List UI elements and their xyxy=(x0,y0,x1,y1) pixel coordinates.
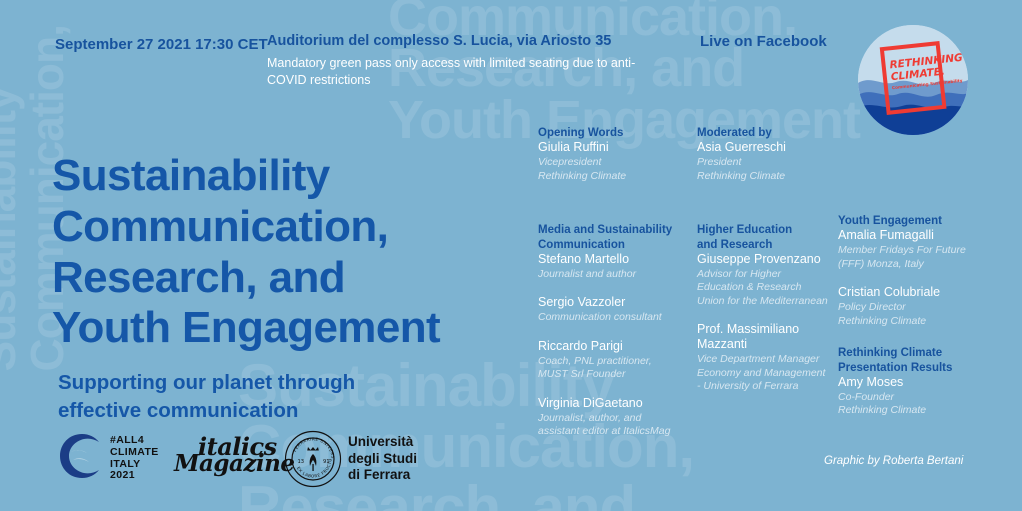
all4climate-logo: #ALL4 CLIMATE ITALY 2021 xyxy=(58,432,178,484)
speaker-group: Higher Education and Research Giuseppe P… xyxy=(697,223,857,393)
speaker-name: Cristian Colubriale xyxy=(838,285,998,300)
speaker-entry: Cristian Colubriale Policy Director Reth… xyxy=(838,285,998,328)
speaker-role: Co-Founder Rethinking Climate xyxy=(838,391,998,418)
speaker-group-heading: Rethinking Climate Presentation Results xyxy=(838,346,998,375)
speaker-name: Stefano Martello xyxy=(538,252,698,267)
speaker-group-heading: Moderated by xyxy=(697,126,857,140)
poster-canvas: Communication, Research, and Youth Engag… xyxy=(0,0,1022,511)
speaker-column-1: Opening Words Giulia Ruffini Vicepreside… xyxy=(538,126,698,457)
speaker-group: Moderated by Asia Guerreschi President R… xyxy=(697,126,857,183)
page-title: Sustainability Communication, Research, … xyxy=(52,151,440,353)
speaker-role: Vicepresident Rethinking Climate xyxy=(538,156,698,183)
graphic-credit: Graphic by Roberta Bertani xyxy=(824,455,963,467)
speaker-group: Youth Engagement Amalia Fumagalli Member… xyxy=(838,214,998,328)
speaker-role: Member Fridays For Future (FFF) Monza, I… xyxy=(838,244,998,271)
speaker-group: Opening Words Giulia Ruffini Vicepreside… xyxy=(538,126,698,183)
speaker-name: Amalia Fumagalli xyxy=(838,228,998,243)
university-of-ferrara-logo: FERRARIAE UNIVERSITAS EX LABORE FRUCTUS … xyxy=(284,428,464,486)
speaker-role: Communication consultant xyxy=(538,311,698,324)
magazine-word: Magazine xyxy=(174,450,295,477)
svg-text:91: 91 xyxy=(323,459,330,465)
speaker-role: Coach, PNL practitioner, MUST Srl Founde… xyxy=(538,355,698,382)
speaker-role: Advisor for Higher Education & Research … xyxy=(697,268,857,308)
speaker-group-heading: Opening Words xyxy=(538,126,698,140)
svg-text:FERRARIAE UNIVERSITAS: FERRARIAE UNIVERSITAS xyxy=(284,430,336,459)
speaker-role: Journalist, author, and assistant editor… xyxy=(538,412,698,439)
event-date-time: September 27 2021 17:30 CET xyxy=(55,33,268,56)
university-name-label: Università degli Studi di Ferrara xyxy=(348,434,417,484)
speaker-role: President Rethinking Climate xyxy=(697,156,857,183)
speaker-name: Riccardo Parigi xyxy=(538,339,698,354)
speaker-entry: Giulia Ruffini Vicepresident Rethinking … xyxy=(538,140,698,183)
all4climate-label: #ALL4 CLIMATE ITALY 2021 xyxy=(110,435,159,482)
speaker-column-3: Youth Engagement Amalia Fumagalli Member… xyxy=(838,214,998,436)
speaker-role: Policy Director Rethinking Climate xyxy=(838,301,998,328)
venue-covid-note: Mandatory green pass only access with li… xyxy=(267,55,647,88)
speaker-group: Media and Sustainability Communication S… xyxy=(538,223,698,438)
seal-top-text: FERRARIAE UNIVERSITAS xyxy=(284,430,336,459)
svg-text:13: 13 xyxy=(298,459,305,465)
rethinking-climate-logo: RETHINKING CLIMATE. Communicating Sustai… xyxy=(858,25,968,135)
speaker-name: Prof. Massimiliano Mazzanti xyxy=(697,322,857,352)
speaker-entry: Sergio Vazzoler Communication consultant xyxy=(538,295,698,324)
speaker-name: Giulia Ruffini xyxy=(538,140,698,155)
speaker-entry: Prof. Massimiliano Mazzanti Vice Departm… xyxy=(697,322,857,393)
speaker-name: Asia Guerreschi xyxy=(697,140,857,155)
speaker-group-heading: Media and Sustainability Communication xyxy=(538,223,698,252)
venue-block: Auditorium del complesso S. Lucia, via A… xyxy=(267,33,647,88)
speaker-name: Giuseppe Provenzano xyxy=(697,252,857,267)
speaker-entry: Stefano Martello Journalist and author xyxy=(538,252,698,281)
speaker-entry: Amy Moses Co-Founder Rethinking Climate xyxy=(838,375,998,418)
speaker-name: Amy Moses xyxy=(838,375,998,390)
speaker-entry: Giuseppe Provenzano Advisor for Higher E… xyxy=(697,252,857,308)
speaker-entry: Riccardo Parigi Coach, PNL practitioner,… xyxy=(538,339,698,382)
speaker-role: Journalist and author xyxy=(538,268,698,281)
university-seal-icon: FERRARIAE UNIVERSITAS EX LABORE FRUCTUS … xyxy=(284,430,342,488)
speaker-entry: Virginia DiGaetano Journalist, author, a… xyxy=(538,396,698,439)
speaker-name: Sergio Vazzoler xyxy=(538,295,698,310)
speaker-name: Virginia DiGaetano xyxy=(538,396,698,411)
speaker-entry: Amalia Fumagalli Member Fridays For Futu… xyxy=(838,228,998,271)
speaker-group-heading: Higher Education and Research xyxy=(697,223,857,252)
speaker-entry: Asia Guerreschi President Rethinking Cli… xyxy=(697,140,857,183)
speaker-column-2: Moderated by Asia Guerreschi President R… xyxy=(697,126,857,412)
italics-magazine-logo: italics Magazine xyxy=(170,430,280,484)
speaker-group-heading: Youth Engagement xyxy=(838,214,998,228)
all4climate-wave-icon xyxy=(58,432,106,480)
page-subtitle: Supporting our planet through effective … xyxy=(58,369,355,424)
live-on-facebook-label: Live on Facebook xyxy=(700,33,827,50)
speaker-group: Rethinking Climate Presentation Results … xyxy=(838,346,998,418)
venue-title: Auditorium del complesso S. Lucia, via A… xyxy=(267,33,647,49)
rethinking-climate-logo-graphic: RETHINKING CLIMATE. Communicating Sustai… xyxy=(858,25,968,135)
speaker-role: Vice Department Manager Economy and Mana… xyxy=(697,353,857,393)
